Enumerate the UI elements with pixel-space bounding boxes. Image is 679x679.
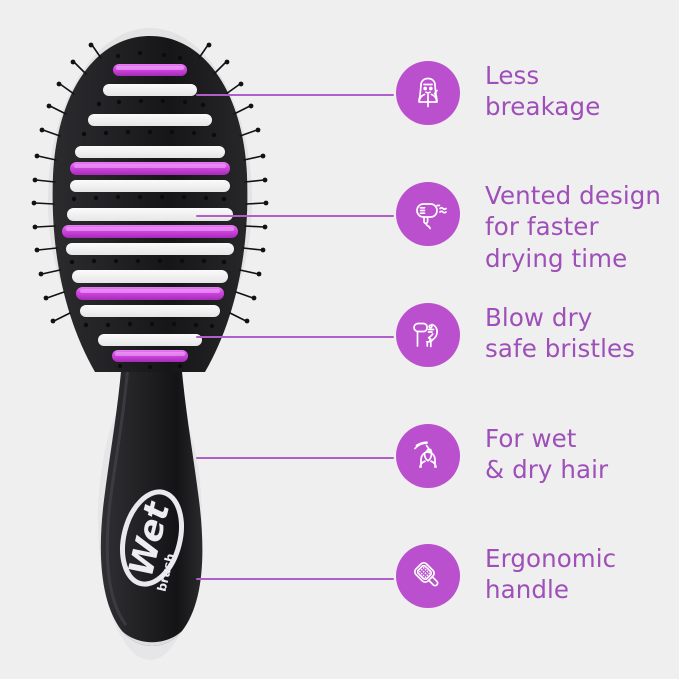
vent-slot xyxy=(88,114,212,126)
brush-head xyxy=(32,36,269,372)
feature-label-5: Ergonomic handle xyxy=(485,543,616,606)
infographic-canvas: Wet brush Less breakage xyxy=(0,0,679,679)
vent-slot xyxy=(98,334,202,346)
connector-line-4 xyxy=(196,457,394,459)
vent-slot xyxy=(72,270,228,283)
feature-label-3: Blow dry safe bristles xyxy=(485,302,635,365)
vent-slot xyxy=(80,305,220,317)
bristle-row xyxy=(113,64,187,76)
blow-dry-profile-icon[interactable] xyxy=(396,303,460,367)
paddle-brush-icon[interactable] xyxy=(396,544,460,608)
bristle-row xyxy=(112,350,188,362)
bristle-row xyxy=(76,287,224,300)
connector-line-2 xyxy=(196,215,394,217)
feature-label-4: For wet & dry hair xyxy=(485,423,608,486)
bristle-row xyxy=(62,225,238,238)
vent-slot xyxy=(70,180,230,192)
feature-label-2: Vented design for faster drying time xyxy=(485,180,661,274)
woman-brushing-hair-icon[interactable] xyxy=(396,61,460,125)
bristle-row xyxy=(70,162,230,175)
vent-slot xyxy=(103,84,197,96)
connector-line-5 xyxy=(196,578,394,580)
hair-dryer-icon[interactable] xyxy=(396,182,460,246)
feature-label-1: Less breakage xyxy=(485,60,600,123)
shower-woman-icon[interactable] xyxy=(396,424,460,488)
vent-slot xyxy=(66,243,234,255)
vent-slot xyxy=(75,146,225,158)
connector-line-3 xyxy=(196,336,394,338)
connector-line-1 xyxy=(196,94,394,96)
